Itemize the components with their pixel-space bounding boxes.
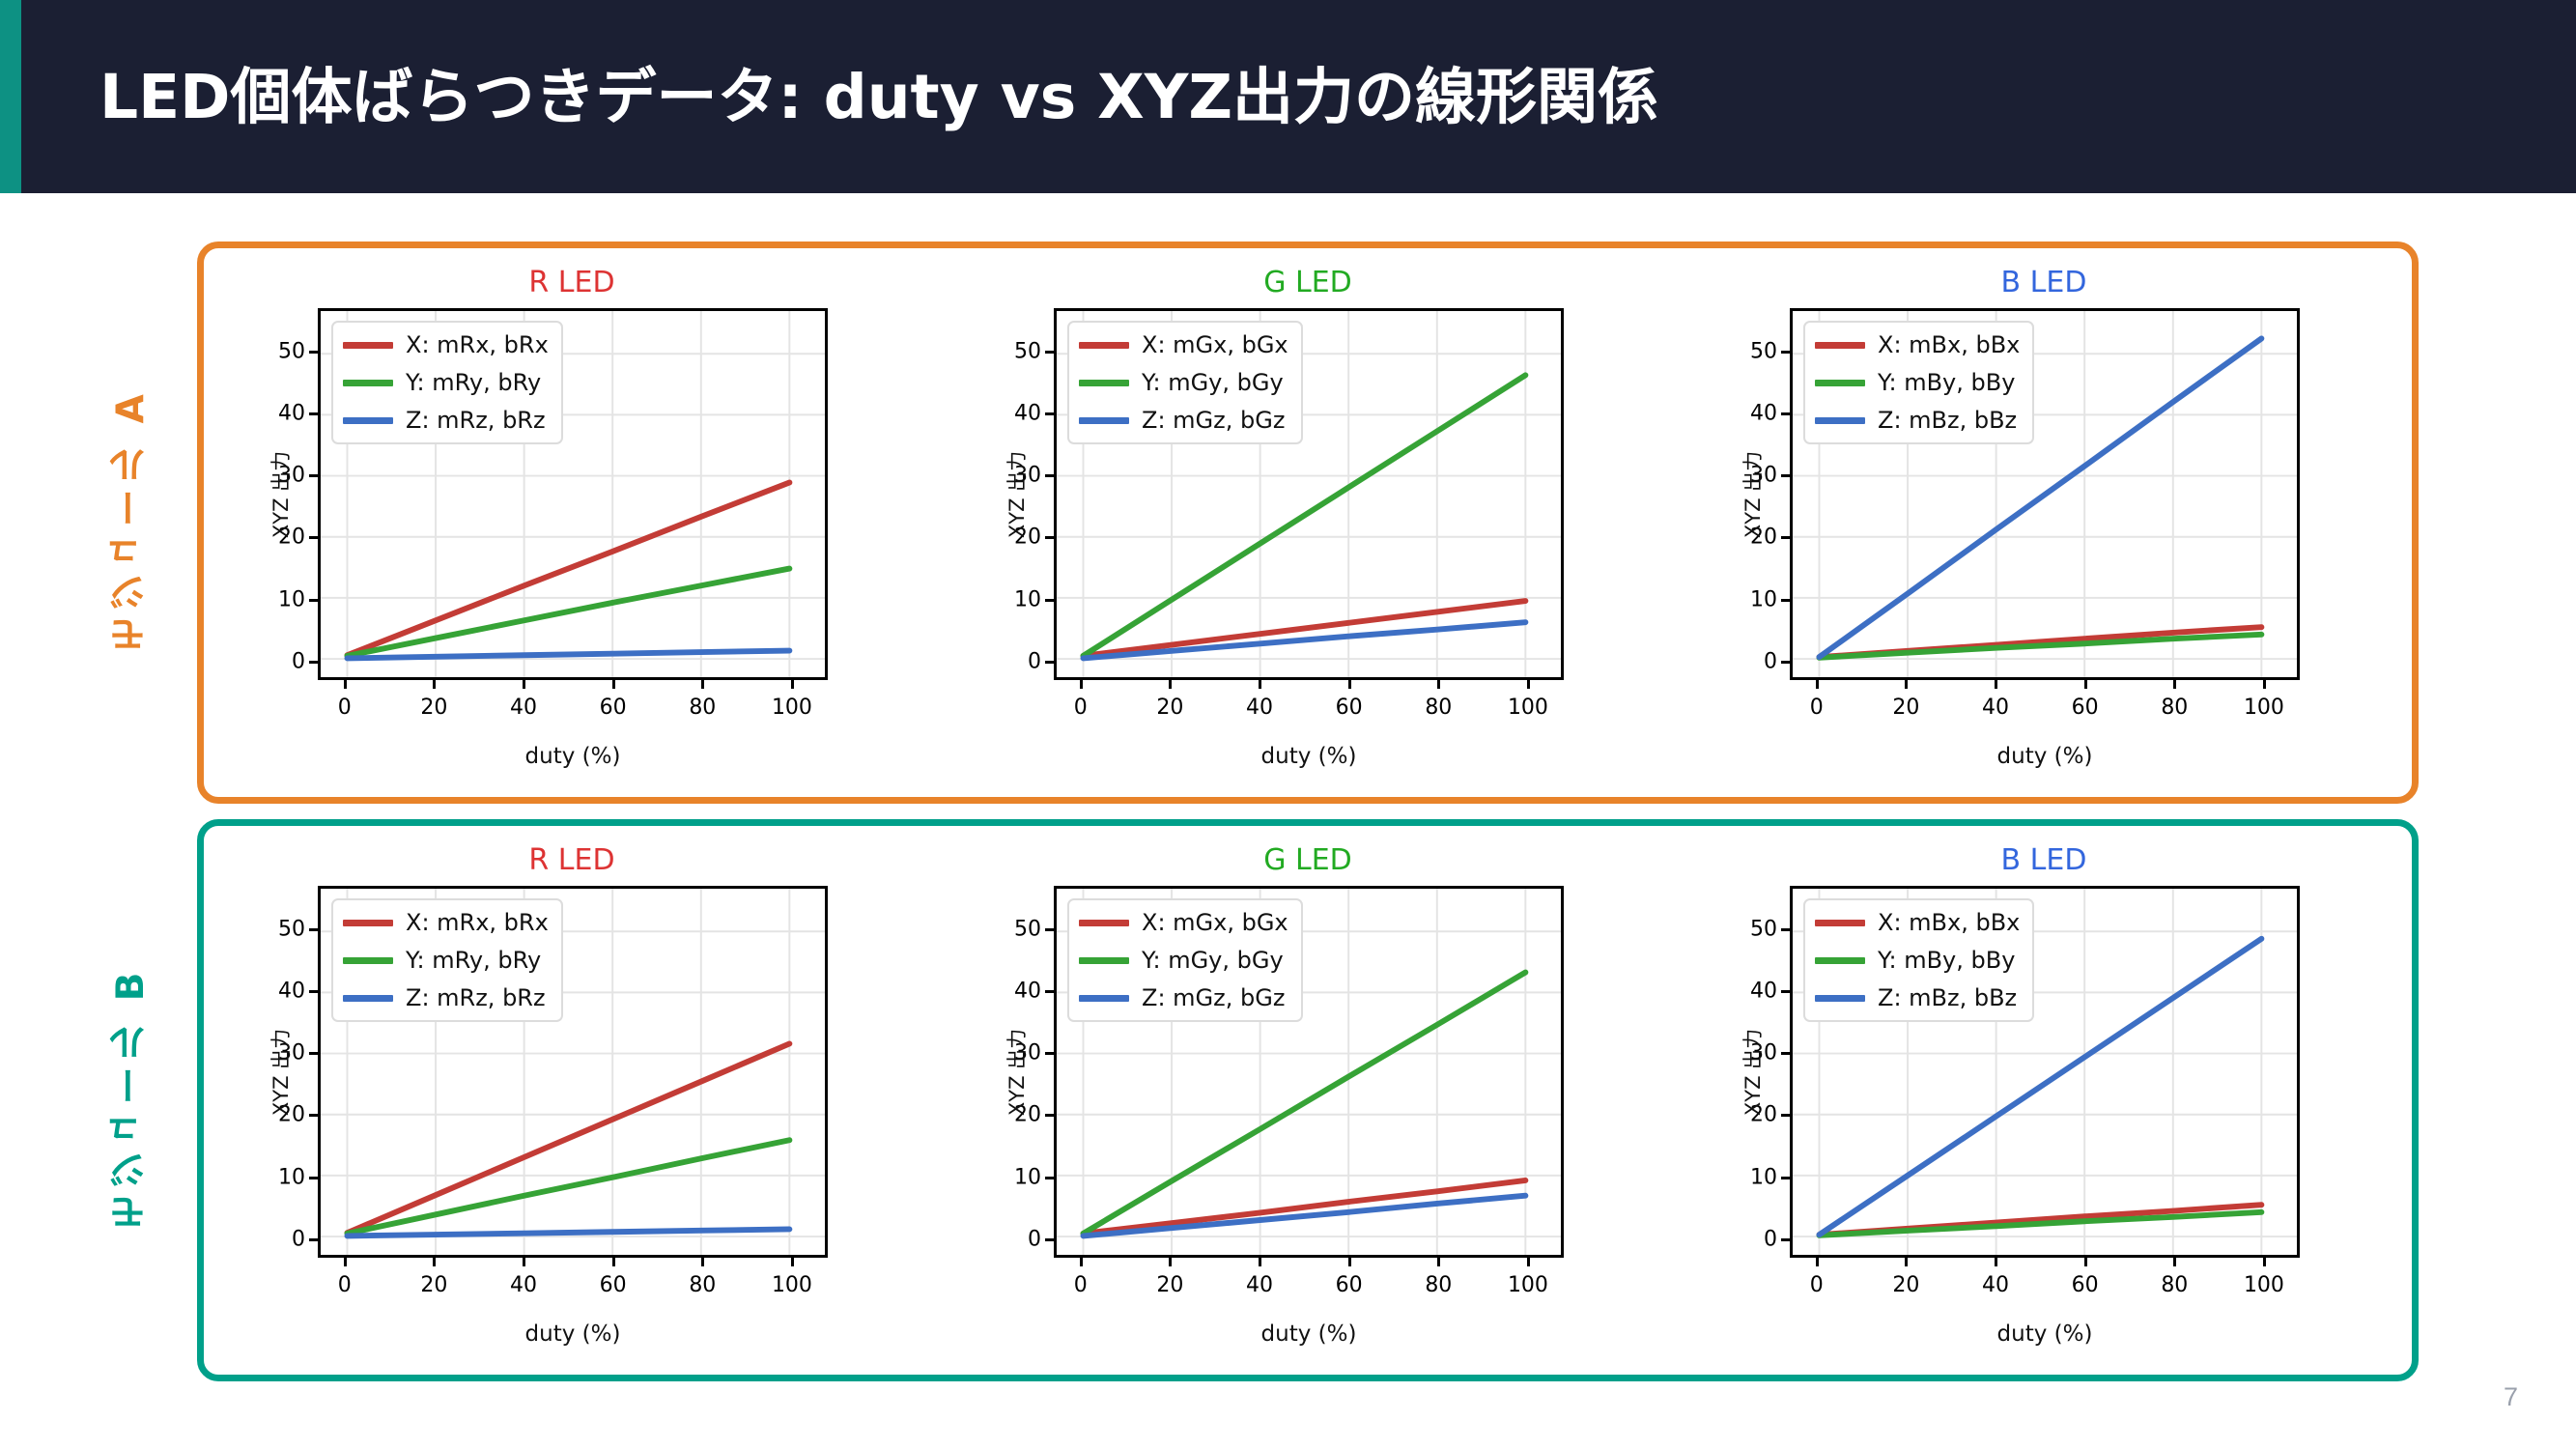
module-label-b: モジュール B (104, 887, 158, 1312)
chart-title: B LED (1676, 266, 2412, 299)
legend-label: X: mGx, bGx (1142, 331, 1288, 358)
x-axis-tick-mark (791, 680, 794, 689)
legend-color-swatch (1815, 957, 1865, 964)
legend-color-swatch (1815, 920, 1865, 926)
x-axis-tick-mark (1905, 680, 1908, 689)
legend-color-swatch (343, 957, 393, 964)
x-axis-tick-label: 0 (338, 696, 352, 720)
y-axis-tick-label: 50 (278, 917, 305, 941)
legend-item[interactable]: Z: mGz, bGz (1079, 984, 1288, 1011)
chart-title: R LED (204, 266, 940, 299)
y-axis-tick-mark (1781, 661, 1790, 664)
x-axis-label: duty (%) (1790, 1321, 2300, 1347)
y-axis-tick-label: 0 (1028, 1227, 1041, 1251)
header-accent-bar (0, 0, 21, 193)
y-axis-tick-label: 0 (1028, 649, 1041, 673)
y-axis-tick-mark (1781, 536, 1790, 539)
plot-area: 01020304050020406080100XYZ 出力duty (%)X: … (318, 308, 828, 680)
x-axis-tick-label: 40 (1982, 696, 2009, 720)
legend-color-swatch (343, 920, 393, 926)
chart-cell: R LED01020304050020406080100XYZ 出力duty (… (204, 826, 940, 1375)
x-axis-tick-mark (1259, 1258, 1261, 1266)
y-axis-tick-label: 50 (1750, 339, 1777, 363)
x-axis-tick-label: 100 (1508, 1273, 1548, 1297)
x-axis-tick-mark (2173, 1258, 2176, 1266)
x-axis-tick-mark (1437, 680, 1440, 689)
y-axis-tick-mark (309, 599, 318, 602)
y-axis-tick-mark (1781, 474, 1790, 477)
x-axis-tick-label: 80 (2161, 1273, 2188, 1297)
y-axis-tick-mark (1781, 1238, 1790, 1241)
x-axis-tick-label: 20 (1892, 1273, 1919, 1297)
legend-label: X: mRx, bRx (406, 909, 549, 936)
x-axis-tick-label: 100 (772, 1273, 812, 1297)
x-axis-tick-mark (1080, 680, 1083, 689)
legend-item[interactable]: X: mGx, bGx (1079, 909, 1288, 936)
legend-item[interactable]: X: mBx, bBx (1815, 331, 2020, 358)
series-line (347, 1140, 789, 1234)
y-axis-tick-label: 40 (278, 980, 305, 1004)
y-axis-tick-label: 0 (1764, 649, 1777, 673)
series-line (347, 651, 789, 659)
legend-color-swatch (1815, 380, 1865, 386)
x-axis-tick-label: 20 (1156, 696, 1183, 720)
legend-color-swatch (1815, 417, 1865, 424)
legend-label: Y: mGy, bGy (1142, 947, 1284, 974)
x-axis-tick-mark (2263, 680, 2266, 689)
legend-item[interactable]: Y: mRy, bRy (343, 947, 549, 974)
y-axis-tick-mark (309, 661, 318, 664)
x-axis-tick-label: 40 (1982, 1273, 2009, 1297)
y-axis-tick-mark (1781, 990, 1790, 993)
y-axis-tick-mark (1045, 536, 1054, 539)
y-axis-tick-label: 50 (1014, 339, 1041, 363)
chart-title: B LED (1676, 843, 2412, 877)
plot-area: 01020304050020406080100XYZ 出力duty (%)X: … (318, 886, 828, 1258)
legend-color-swatch (343, 417, 393, 424)
y-axis-tick-label: 40 (1014, 402, 1041, 426)
y-axis-tick-label: 10 (1750, 587, 1777, 611)
x-axis-tick-mark (2084, 680, 2087, 689)
legend-label: Y: mRy, bRy (406, 947, 541, 974)
y-axis-tick-mark (309, 1177, 318, 1179)
y-axis-tick-label: 0 (292, 649, 305, 673)
y-axis-tick-mark (1781, 928, 1790, 931)
legend-color-swatch (1079, 920, 1129, 926)
x-axis-tick-mark (433, 680, 436, 689)
x-axis-tick-label: 80 (689, 696, 716, 720)
x-axis-tick-mark (612, 1258, 615, 1266)
y-axis-label: XYZ 出力 (1738, 450, 1767, 537)
x-axis-tick-mark (1816, 680, 1819, 689)
x-axis-tick-label: 20 (1156, 1273, 1183, 1297)
series-line (347, 1229, 789, 1236)
y-axis-tick-label: 50 (1014, 917, 1041, 941)
y-axis-tick-mark (1045, 412, 1054, 415)
chart-cell: G LED01020304050020406080100XYZ 出力duty (… (940, 248, 1676, 797)
y-axis-tick-label: 40 (1750, 402, 1777, 426)
y-axis-tick-label: 10 (1014, 1165, 1041, 1189)
chart-title: R LED (204, 843, 940, 877)
x-axis-label: duty (%) (1054, 744, 1564, 769)
x-axis-tick-label: 60 (1336, 1273, 1363, 1297)
y-axis-tick-mark (309, 1052, 318, 1055)
slide: LED個体ばらつきデータ: duty vs XYZ出力の線形関係 モジュール A… (0, 0, 2576, 1449)
plot-area: 01020304050020406080100XYZ 出力duty (%)X: … (1054, 308, 1564, 680)
x-axis-tick-mark (1995, 680, 1997, 689)
y-axis-tick-mark (1781, 1114, 1790, 1117)
y-axis-tick-label: 50 (278, 339, 305, 363)
legend-label: Y: mBy, bBy (1878, 947, 2015, 974)
x-axis-tick-mark (1437, 1258, 1440, 1266)
chart-cell: G LED01020304050020406080100XYZ 出力duty (… (940, 826, 1676, 1375)
legend-item[interactable]: X: mRx, bRx (343, 909, 549, 936)
legend-item[interactable]: Z: mRz, bRz (343, 407, 549, 434)
x-axis-tick-label: 40 (510, 696, 537, 720)
legend-item[interactable]: Z: mBz, bBz (1815, 407, 2020, 434)
legend-label: X: mBx, bBx (1878, 909, 2020, 936)
x-axis-tick-label: 80 (1425, 1273, 1452, 1297)
y-axis-tick-mark (309, 474, 318, 477)
x-axis-tick-label: 40 (1246, 1273, 1273, 1297)
legend-color-swatch (1079, 380, 1129, 386)
x-axis-tick-mark (791, 1258, 794, 1266)
legend-label: Y: mRy, bRy (406, 369, 541, 396)
legend-color-swatch (1079, 342, 1129, 349)
legend-label: X: mRx, bRx (406, 331, 549, 358)
x-axis-tick-label: 20 (420, 1273, 447, 1297)
legend-color-swatch (343, 380, 393, 386)
page-number: 7 (2504, 1382, 2518, 1412)
x-axis-label: duty (%) (1790, 744, 2300, 769)
chart-legend: X: mBx, bBxY: mBy, bByZ: mBz, bBz (1803, 321, 2034, 444)
series-line (1819, 635, 2261, 658)
x-axis-tick-mark (1816, 1258, 1819, 1266)
x-axis-tick-label: 80 (2161, 696, 2188, 720)
chart-row-b: R LED01020304050020406080100XYZ 出力duty (… (204, 826, 2412, 1375)
legend-color-swatch (343, 995, 393, 1002)
y-axis-tick-label: 40 (1750, 980, 1777, 1004)
legend-label: X: mGx, bGx (1142, 909, 1288, 936)
y-axis-tick-label: 40 (278, 402, 305, 426)
x-axis-tick-mark (612, 680, 615, 689)
legend-item[interactable]: Y: mBy, bBy (1815, 947, 2020, 974)
x-axis-tick-label: 80 (1425, 696, 1452, 720)
series-line (347, 569, 789, 656)
x-axis-tick-mark (1080, 1258, 1083, 1266)
y-axis-tick-label: 10 (278, 1165, 305, 1189)
y-axis-tick-label: 50 (1750, 917, 1777, 941)
x-axis-tick-label: 0 (338, 1273, 352, 1297)
x-axis-tick-mark (523, 680, 525, 689)
legend-item[interactable]: X: mGx, bGx (1079, 331, 1288, 358)
legend-label: Z: mBz, bBz (1878, 984, 2017, 1011)
y-axis-tick-mark (1045, 351, 1054, 354)
y-axis-tick-mark (1781, 351, 1790, 354)
chart-cell: B LED01020304050020406080100XYZ 出力duty (… (1676, 248, 2412, 797)
plot-area: 01020304050020406080100XYZ 出力duty (%)X: … (1790, 886, 2300, 1258)
x-axis-tick-mark (1348, 1258, 1351, 1266)
series-line (1083, 1180, 1525, 1234)
x-axis-tick-mark (1348, 680, 1351, 689)
x-axis-tick-label: 60 (2072, 696, 2099, 720)
x-axis-tick-mark (2263, 1258, 2266, 1266)
legend-label: X: mBx, bBx (1878, 331, 2020, 358)
y-axis-tick-mark (1045, 1238, 1054, 1241)
legend-label: Z: mGz, bGz (1142, 984, 1285, 1011)
y-axis-tick-mark (309, 928, 318, 931)
x-axis-tick-mark (344, 1258, 347, 1266)
legend-label: Z: mRz, bRz (406, 407, 546, 434)
y-axis-tick-label: 0 (1764, 1227, 1777, 1251)
x-axis-tick-label: 80 (689, 1273, 716, 1297)
x-axis-label: duty (%) (318, 1321, 828, 1347)
y-axis-tick-mark (309, 412, 318, 415)
x-axis-tick-mark (433, 1258, 436, 1266)
page-title: LED個体ばらつきデータ: duty vs XYZ出力の線形関係 (99, 48, 1658, 136)
x-axis-tick-label: 60 (1336, 696, 1363, 720)
y-axis-tick-mark (1045, 474, 1054, 477)
x-axis-tick-mark (1169, 680, 1172, 689)
y-axis-tick-label: 40 (1014, 980, 1041, 1004)
x-axis-tick-label: 0 (1810, 1273, 1824, 1297)
x-axis-tick-label: 100 (1508, 696, 1548, 720)
y-axis-tick-mark (1045, 1177, 1054, 1179)
legend-item[interactable]: Y: mBy, bBy (1815, 369, 2020, 396)
x-axis-tick-label: 60 (600, 1273, 627, 1297)
chart-legend: X: mBx, bBxY: mBy, bByZ: mBz, bBz (1803, 898, 2034, 1022)
legend-color-swatch (343, 342, 393, 349)
y-axis-tick-label: 10 (1750, 1165, 1777, 1189)
module-panel-b: R LED01020304050020406080100XYZ 出力duty (… (197, 819, 2419, 1381)
legend-label: Z: mGz, bGz (1142, 407, 1285, 434)
x-axis-tick-label: 40 (510, 1273, 537, 1297)
y-axis-label: XYZ 出力 (266, 1028, 295, 1115)
chart-legend: X: mGx, bGxY: mGy, bGyZ: mGz, bGz (1067, 898, 1303, 1022)
y-axis-tick-label: 10 (1014, 587, 1041, 611)
x-axis-tick-label: 100 (772, 696, 812, 720)
y-axis-tick-mark (1781, 1177, 1790, 1179)
chart-legend: X: mRx, bRxY: mRy, bRyZ: mRz, bRz (331, 898, 563, 1022)
x-axis-tick-mark (2173, 680, 2176, 689)
x-axis-tick-label: 0 (1074, 1273, 1088, 1297)
legend-item[interactable]: Y: mRy, bRy (343, 369, 549, 396)
legend-item[interactable]: X: mBx, bBx (1815, 909, 2020, 936)
legend-item[interactable]: Z: mGz, bGz (1079, 407, 1288, 434)
chart-title: G LED (940, 266, 1676, 299)
legend-item[interactable]: Y: mGy, bGy (1079, 947, 1288, 974)
legend-item[interactable]: Y: mGy, bGy (1079, 369, 1288, 396)
x-axis-tick-mark (1527, 1258, 1530, 1266)
x-axis-tick-label: 20 (1892, 696, 1919, 720)
plot-area: 01020304050020406080100XYZ 出力duty (%)X: … (1790, 308, 2300, 680)
y-axis-tick-mark (1781, 412, 1790, 415)
x-axis-tick-mark (2084, 1258, 2087, 1266)
legend-item[interactable]: Z: mRz, bRz (343, 984, 549, 1011)
y-axis-label: XYZ 出力 (1002, 1028, 1031, 1115)
slide-header: LED個体ばらつきデータ: duty vs XYZ出力の線形関係 (0, 0, 2576, 193)
x-axis-tick-label: 20 (420, 696, 447, 720)
y-axis-tick-mark (309, 351, 318, 354)
x-axis-label: duty (%) (318, 744, 828, 769)
y-axis-label: XYZ 出力 (266, 450, 295, 537)
x-axis-tick-mark (1169, 1258, 1172, 1266)
legend-color-swatch (1079, 417, 1129, 424)
legend-label: Z: mRz, bRz (406, 984, 546, 1011)
chart-cell: R LED01020304050020406080100XYZ 出力duty (… (204, 248, 940, 797)
chart-title: G LED (940, 843, 1676, 877)
x-axis-tick-label: 60 (600, 696, 627, 720)
legend-label: Y: mBy, bBy (1878, 369, 2015, 396)
chart-legend: X: mGx, bGxY: mGy, bGyZ: mGz, bGz (1067, 321, 1303, 444)
legend-item[interactable]: Z: mBz, bBz (1815, 984, 2020, 1011)
legend-color-swatch (1815, 995, 1865, 1002)
y-axis-tick-mark (1045, 928, 1054, 931)
x-axis-tick-mark (701, 1258, 704, 1266)
x-axis-tick-mark (1905, 1258, 1908, 1266)
chart-row-a: R LED01020304050020406080100XYZ 出力duty (… (204, 248, 2412, 797)
y-axis-label: XYZ 出力 (1738, 1028, 1767, 1115)
series-line (1083, 1196, 1525, 1236)
y-axis-tick-label: 10 (278, 587, 305, 611)
x-axis-tick-label: 100 (2244, 1273, 2284, 1297)
x-axis-tick-label: 0 (1074, 696, 1088, 720)
y-axis-tick-mark (1045, 661, 1054, 664)
x-axis-tick-mark (1527, 680, 1530, 689)
legend-label: Z: mBz, bBz (1878, 407, 2017, 434)
legend-label: Y: mGy, bGy (1142, 369, 1284, 396)
chart-cell: B LED01020304050020406080100XYZ 出力duty (… (1676, 826, 2412, 1375)
legend-color-swatch (1815, 342, 1865, 349)
series-line (347, 1043, 789, 1233)
y-axis-tick-mark (309, 1114, 318, 1117)
x-axis-tick-mark (1259, 680, 1261, 689)
series-line (347, 482, 789, 655)
x-axis-tick-label: 0 (1810, 696, 1824, 720)
module-label-a: モジュール A (104, 309, 158, 734)
x-axis-tick-label: 40 (1246, 696, 1273, 720)
y-axis-tick-mark (1781, 1052, 1790, 1055)
y-axis-tick-mark (309, 536, 318, 539)
legend-color-swatch (1079, 957, 1129, 964)
x-axis-tick-mark (344, 680, 347, 689)
y-axis-tick-label: 0 (292, 1227, 305, 1251)
x-axis-tick-mark (523, 1258, 525, 1266)
y-axis-tick-mark (1045, 1052, 1054, 1055)
legend-item[interactable]: X: mRx, bRx (343, 331, 549, 358)
chart-legend: X: mRx, bRxY: mRy, bRyZ: mRz, bRz (331, 321, 563, 444)
x-axis-tick-label: 60 (2072, 1273, 2099, 1297)
x-axis-tick-mark (1995, 1258, 1997, 1266)
y-axis-tick-mark (1045, 1114, 1054, 1117)
y-axis-tick-mark (309, 1238, 318, 1241)
plot-area: 01020304050020406080100XYZ 出力duty (%)X: … (1054, 886, 1564, 1258)
y-axis-tick-mark (1045, 990, 1054, 993)
x-axis-label: duty (%) (1054, 1321, 1564, 1347)
y-axis-tick-mark (1781, 599, 1790, 602)
module-panel-a: R LED01020304050020406080100XYZ 出力duty (… (197, 241, 2419, 804)
y-axis-tick-mark (309, 990, 318, 993)
series-line (1819, 1212, 2261, 1236)
legend-color-swatch (1079, 995, 1129, 1002)
x-axis-tick-mark (701, 680, 704, 689)
y-axis-label: XYZ 出力 (1002, 450, 1031, 537)
x-axis-tick-label: 100 (2244, 696, 2284, 720)
y-axis-tick-mark (1045, 599, 1054, 602)
